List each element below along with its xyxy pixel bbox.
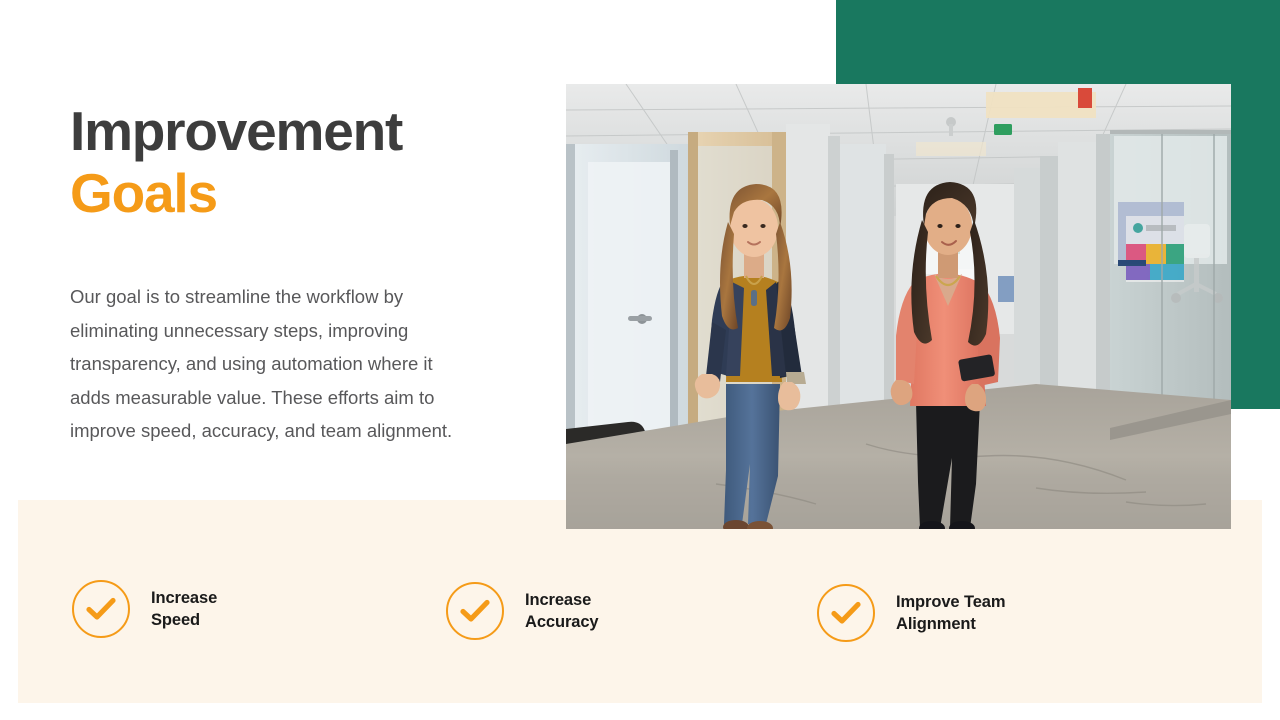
- check-icon: [817, 584, 875, 642]
- text-column: Improvement Goals Our goal is to streaml…: [70, 100, 500, 448]
- check-icon: [72, 580, 130, 638]
- feature-label: Improve Team Alignment: [896, 591, 1005, 635]
- feature-label: Increase Speed: [151, 587, 217, 631]
- feature-item-increase-accuracy: Increase Accuracy: [446, 582, 599, 640]
- title-line-1: Improvement: [70, 100, 402, 162]
- title-line-2: Goals: [70, 162, 217, 224]
- page-title: Improvement Goals: [70, 100, 500, 224]
- slide-canvas: Improvement Goals Our goal is to streaml…: [0, 0, 1280, 720]
- check-icon: [446, 582, 504, 640]
- feature-item-increase-speed: Increase Speed: [72, 580, 217, 638]
- feature-label: Increase Accuracy: [525, 589, 599, 633]
- body-paragraph: Our goal is to streamline the workflow b…: [70, 280, 470, 448]
- hero-photo: [566, 84, 1231, 529]
- feature-item-improve-team-alignment: Improve Team Alignment: [817, 584, 1005, 642]
